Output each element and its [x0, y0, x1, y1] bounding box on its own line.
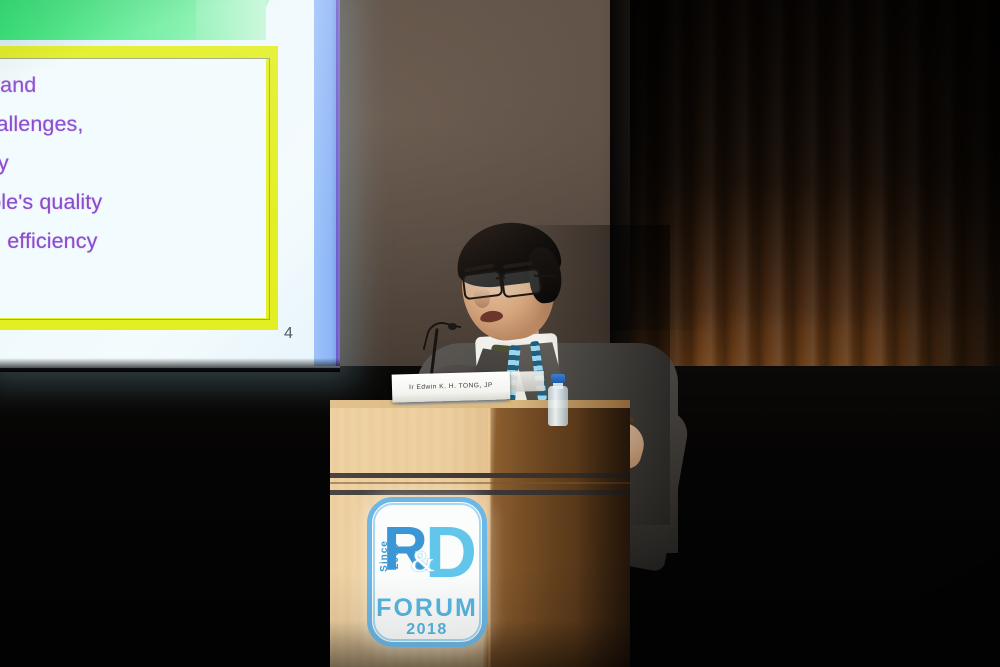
slide-edge-line	[336, 0, 340, 366]
slide-line-4: ove people's quality	[0, 183, 272, 222]
microphone-capsule	[448, 323, 457, 330]
slide-line-2: urban challenges,	[0, 105, 272, 144]
slide-line-5: ainability, efficiency	[0, 222, 272, 261]
presentation-slide: novation and urban challenges, ess of ci…	[0, 0, 316, 366]
logo-since-text: Since 2006	[379, 526, 401, 586]
projection-screen: novation and urban challenges, ess of ci…	[0, 0, 340, 368]
water-bottle-cap	[551, 374, 565, 383]
speaker-nameplate: Ir Edwin K. H. TONG, JP	[392, 371, 511, 402]
water-bottle	[548, 386, 568, 426]
photograph-scene: novation and urban challenges, ess of ci…	[0, 0, 1000, 667]
logo-ampersand: &	[411, 547, 434, 577]
slide-line-3: ess of city	[0, 144, 272, 183]
logo-year-text: 2018	[367, 621, 487, 639]
logo-forum-text: FORUM	[367, 594, 487, 623]
slide-body-text: novation and urban challenges, ess of ci…	[0, 66, 272, 261]
slide-line-1: novation and	[0, 66, 272, 105]
screen-bottom-edge	[0, 358, 340, 372]
rd-forum-logo: D R & Since 2006 FORUM 2018	[367, 497, 487, 647]
slide-title-banner-cap	[196, 0, 266, 40]
nameplate-text: Ir Edwin K. H. TONG, JP	[392, 381, 510, 391]
slide-page-number: 4	[284, 325, 293, 343]
slide-blue-side-stripe	[314, 0, 338, 366]
eyeglasses-right-lens	[501, 268, 543, 299]
